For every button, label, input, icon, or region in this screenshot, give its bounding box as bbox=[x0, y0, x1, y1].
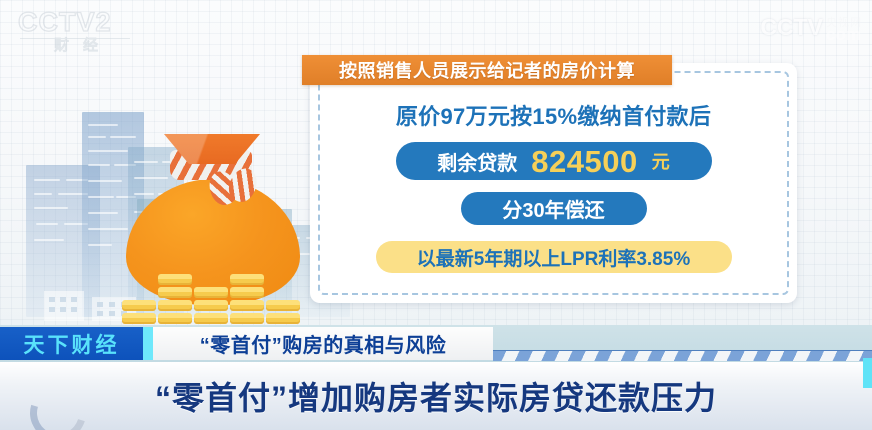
cctv-com-watermark: CCTV 央视网 com bbox=[760, 7, 862, 41]
cctv-wordmark: CCTV bbox=[18, 7, 96, 37]
topic-title-text: “零首付”购房的真相与风险 bbox=[200, 329, 447, 358]
broadcast-screenshot: 按照销售人员展示给记者的房价计算 原价97万元按15%缴纳首付款后 剩余贷款 8… bbox=[0, 0, 872, 430]
remaining-loan-unit: 元 bbox=[652, 148, 670, 174]
low-rise-building bbox=[44, 291, 84, 321]
remaining-loan-label: 剩余贷款 bbox=[437, 147, 517, 176]
cctv-channel-number: 2 bbox=[96, 7, 112, 37]
original-price-line: 原价97万元按15%缴纳首付款后 bbox=[396, 99, 711, 131]
lpr-rate-pill: 以最新5年期以上LPR利率3.85% bbox=[376, 241, 732, 273]
remaining-loan-amount: 824500 bbox=[531, 146, 637, 177]
watermark-cctv-text: CCTV bbox=[760, 14, 823, 41]
coin-stack bbox=[230, 272, 264, 324]
right-edge-cyan-accent bbox=[863, 358, 872, 388]
lower-third-row: 天下财经 “零首付”购房的真相与风险 bbox=[0, 325, 872, 362]
program-name-text: 天下财经 bbox=[24, 329, 120, 359]
lower-third-separator bbox=[143, 327, 153, 360]
card-content: 原价97万元按15%缴纳首付款后 剩余贷款 824500 元 分30年偿还 以最… bbox=[310, 95, 797, 295]
coin-stack bbox=[158, 272, 192, 324]
cctv-channel-subtitle: 财经 bbox=[18, 36, 148, 56]
topic-title-box: “零首付”购房的真相与风险 bbox=[153, 327, 493, 360]
card-banner-title: 按照销售人员展示给记者的房价计算 bbox=[339, 57, 635, 83]
gold-coin-stacks bbox=[118, 256, 308, 324]
repayment-term-text: 分30年偿还 bbox=[502, 194, 604, 223]
coin-stack bbox=[266, 298, 300, 324]
repayment-term-pill: 分30年偿还 bbox=[461, 192, 647, 225]
coin-stack bbox=[122, 298, 156, 324]
card-banner: 按照销售人员展示给记者的房价计算 bbox=[302, 55, 672, 85]
program-name-badge: 天下财经 bbox=[0, 327, 143, 360]
diagonal-stripe-bar bbox=[493, 350, 872, 361]
money-bag-illustration bbox=[118, 134, 308, 324]
lpr-rate-text: 以最新5年期以上LPR利率3.85% bbox=[417, 244, 690, 271]
headline-text: “零首付”增加购房者实际房贷还款压力 bbox=[155, 373, 717, 419]
headline-bar: “零首付”增加购房者实际房贷还款压力 bbox=[0, 362, 872, 430]
coin-stack bbox=[194, 285, 228, 324]
cctv-logo-rule bbox=[20, 38, 130, 39]
video-frame: 按照销售人员展示给记者的房价计算 原价97万元按15%缴纳首付款后 剩余贷款 8… bbox=[0, 0, 872, 325]
cctv-logo-text: CCTV2 bbox=[18, 8, 148, 36]
watermark-com-text: com bbox=[826, 29, 862, 41]
cctv-channel-logo: CCTV2 财经 bbox=[18, 8, 148, 60]
remaining-loan-pill: 剩余贷款 824500 元 bbox=[396, 142, 712, 180]
